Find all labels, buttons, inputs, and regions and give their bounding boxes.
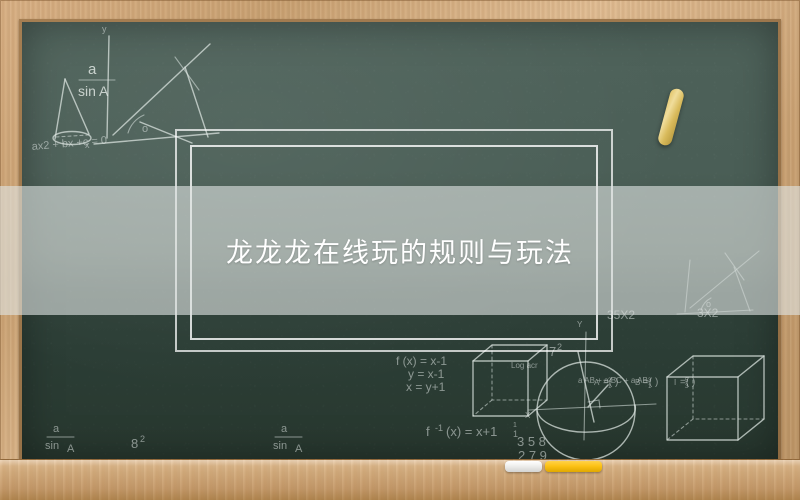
svg-text:3 5 8: 3 5 8 [517,434,546,449]
yellow-chalk-icon [545,461,602,472]
ledge-highlight [0,460,800,466]
svg-text:-1: -1 [435,423,443,433]
svg-text:B: B [635,378,640,387]
page-title: 龙龙龙在线玩的规则与玩法 [226,231,574,270]
svg-text:a: a [53,423,60,435]
svg-text:sin: sin [45,440,59,452]
svg-text:1: 1 [513,422,517,429]
angle-axes-drawing-left [94,36,219,144]
svg-text:a: a [281,423,288,435]
matrix-notation: A =( ) B =( ) I =( ) 2 1 3 1 5 3 [594,377,695,390]
svg-text:8: 8 [131,436,138,451]
svg-text:sin A: sin A [78,83,109,99]
svg-text:a: a [88,61,97,78]
svg-text:A: A [67,443,75,455]
svg-text:Log acr: Log acr [511,361,538,370]
svg-text:y: y [102,24,107,34]
svg-text:X: X [525,411,531,420]
svg-text:2 7 9: 2 7 9 [518,448,547,459]
title-banner-overlay: 龙龙龙在线玩的规则与玩法 [0,186,800,315]
svg-text:f (x) = x-1: f (x) = x-1 [396,354,447,368]
svg-text:A: A [594,378,600,387]
svg-text:A: A [295,443,303,455]
screenshot-root: .cl{fill:none;stroke:#dfe7e3;stroke-opac… [0,0,800,500]
svg-text:(x) = x+1: (x) = x+1 [446,424,497,439]
svg-text:f: f [426,424,430,439]
chalk-ledge [0,459,800,500]
svg-text:x = y+1: x = y+1 [406,380,446,394]
svg-text:y = x-1: y = x-1 [408,367,445,381]
eraser-icon [505,461,542,472]
svg-text:sin: sin [273,440,287,452]
svg-text:I: I [674,378,676,387]
svg-text:2: 2 [140,434,145,444]
cube-wireframe-right [667,356,764,440]
cube-wireframe-left [473,345,547,416]
svg-text:o: o [142,123,148,135]
svg-text:ax2 + bx +c = 0: ax2 + bx +c = 0 [31,134,107,153]
